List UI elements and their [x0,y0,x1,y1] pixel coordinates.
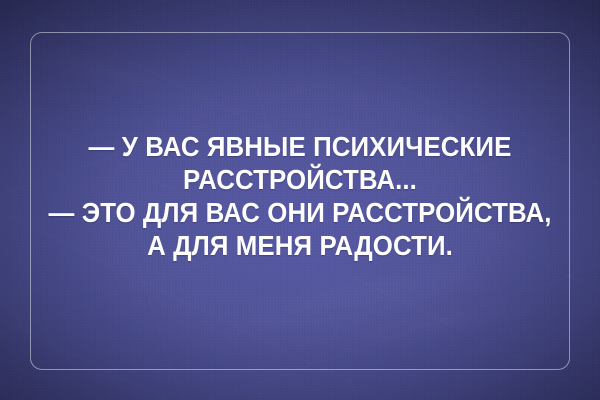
caption-line-2: РАССТРОЙСТВА... [46,163,554,196]
caption-line-1: — У ВАС ЯВНЫЕ ПСИХИЧЕСКИЕ [46,130,554,163]
caption-line-3: — ЭТО ДЛЯ ВАС ОНИ РАССТРОЙСТВА, [46,196,554,229]
caption-text-block: — У ВАС ЯВНЫЕ ПСИХИЧЕСКИЕ РАССТРОЙСТВА..… [46,130,554,262]
demotivator-card: — У ВАС ЯВНЫЕ ПСИХИЧЕСКИЕ РАССТРОЙСТВА..… [0,0,600,400]
caption-line-4: А ДЛЯ МЕНЯ РАДОСТИ. [46,229,554,262]
